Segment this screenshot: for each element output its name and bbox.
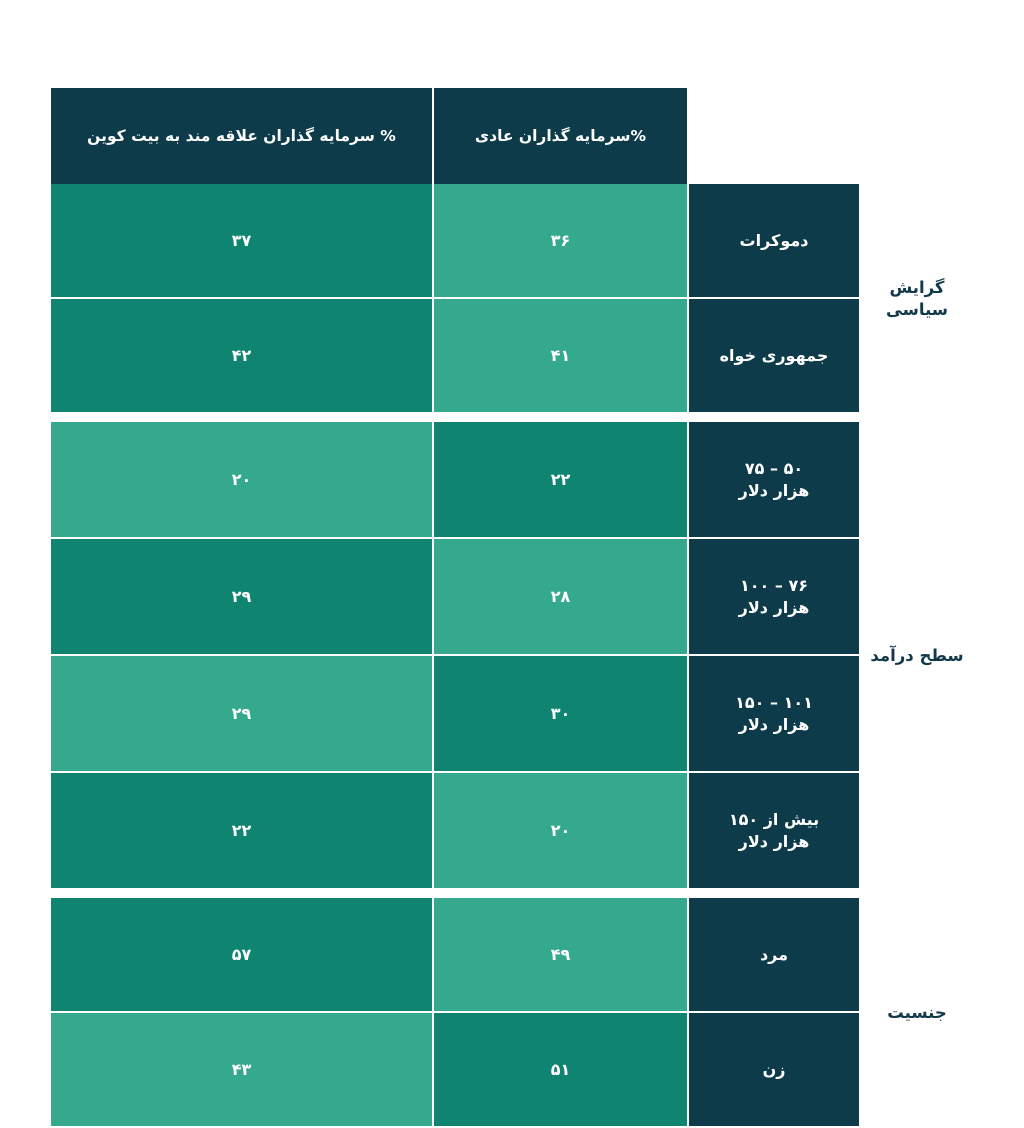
group-label-line: سطح درآمد xyxy=(867,645,967,667)
group-label-gender: جنسیت xyxy=(861,898,973,1128)
cell-btc-income-over-150: ۲۲ xyxy=(51,773,434,890)
spacer-cell xyxy=(689,890,861,898)
row-label-democrat: دموکرات xyxy=(689,184,861,299)
demographics-matrix-table: %سرمایه گذاران عادی % سرمایه گذاران علاق… xyxy=(51,88,973,1128)
spacer-cell xyxy=(434,414,689,422)
row-label-line: ۵۰ – ۷۵ xyxy=(699,458,849,479)
table-row: بیش از ۱۵۰ هزار دلار ۲۰ ۲۲ xyxy=(51,773,973,890)
row-label-line: هزار دلار xyxy=(699,714,849,735)
spacer-cell xyxy=(689,414,861,422)
table-row: سطح درآمد ۵۰ – ۷۵ هزار دلار ۲۲ ۲۰ xyxy=(51,422,973,539)
cell-normal-republican: ۴۱ xyxy=(434,299,689,414)
group-spacer xyxy=(51,414,973,422)
cell-normal-income-over-150: ۲۰ xyxy=(434,773,689,890)
column-header-bitcoin-investors: % سرمایه گذاران علاقه مند به بیت کوین xyxy=(51,88,434,184)
cell-btc-income-76-100: ۲۹ xyxy=(51,539,434,656)
table-row: جنسیت مرد ۴۹ ۵۷ xyxy=(51,898,973,1013)
row-label-income-over-150: بیش از ۱۵۰ هزار دلار xyxy=(689,773,861,890)
group-label-line: جنسیت xyxy=(867,1002,967,1024)
row-label-line: هزار دلار xyxy=(699,480,849,501)
row-label-line: دموکرات xyxy=(699,230,849,251)
cell-btc-income-50-75: ۲۰ xyxy=(51,422,434,539)
matrix-table-container: %سرمایه گذاران عادی % سرمایه گذاران علاق… xyxy=(0,0,1024,1010)
cell-normal-democrat: ۳۶ xyxy=(434,184,689,299)
group-label-line: سیاسی xyxy=(867,299,967,321)
row-label-income-101-150: ۱۰۱ – ۱۵۰ هزار دلار xyxy=(689,656,861,773)
cell-btc-income-101-150: ۲۹ xyxy=(51,656,434,773)
spacer-cell xyxy=(434,890,689,898)
spacer-cell xyxy=(51,414,434,422)
cell-normal-male: ۴۹ xyxy=(434,898,689,1013)
spacer-cell xyxy=(861,414,973,422)
cell-normal-income-50-75: ۲۲ xyxy=(434,422,689,539)
column-header-normal-investors: %سرمایه گذاران عادی xyxy=(434,88,689,184)
row-label-republican: جمهوری خواه xyxy=(689,299,861,414)
row-label-line: هزار دلار xyxy=(699,831,849,852)
table-row: ۷۶ – ۱۰۰ هزار دلار ۲۸ ۲۹ xyxy=(51,539,973,656)
group-label-income: سطح درآمد xyxy=(861,422,973,890)
cell-normal-income-76-100: ۲۸ xyxy=(434,539,689,656)
group-label-political: گرایش سیاسی xyxy=(861,184,973,414)
spacer-cell xyxy=(861,890,973,898)
header-corner-blank xyxy=(861,88,973,184)
group-label-line: گرایش xyxy=(867,277,967,299)
row-label-line: زن xyxy=(699,1059,849,1080)
row-label-line: هزار دلار xyxy=(699,597,849,618)
cell-btc-female: ۴۳ xyxy=(51,1013,434,1128)
row-label-female: زن xyxy=(689,1013,861,1128)
table-header-row: %سرمایه گذاران عادی % سرمایه گذاران علاق… xyxy=(51,88,973,184)
cell-btc-democrat: ۳۷ xyxy=(51,184,434,299)
row-label-line: جمهوری خواه xyxy=(699,345,849,366)
cell-normal-female: ۵۱ xyxy=(434,1013,689,1128)
cell-normal-income-101-150: ۳۰ xyxy=(434,656,689,773)
table-row: زن ۵۱ ۴۳ xyxy=(51,1013,973,1128)
group-spacer xyxy=(51,890,973,898)
table-row: جمهوری خواه ۴۱ ۴۲ xyxy=(51,299,973,414)
cell-btc-male: ۵۷ xyxy=(51,898,434,1013)
row-label-line: ۱۰۱ – ۱۵۰ xyxy=(699,692,849,713)
row-label-income-76-100: ۷۶ – ۱۰۰ هزار دلار xyxy=(689,539,861,656)
row-label-line: بیش از ۱۵۰ xyxy=(699,809,849,830)
table-row: ۱۰۱ – ۱۵۰ هزار دلار ۳۰ ۲۹ xyxy=(51,656,973,773)
table-row: گرایش سیاسی دموکرات ۳۶ ۳۷ xyxy=(51,184,973,299)
row-label-line: مرد xyxy=(699,944,849,965)
spacer-cell xyxy=(51,890,434,898)
row-label-male: مرد xyxy=(689,898,861,1013)
row-label-income-50-75: ۵۰ – ۷۵ هزار دلار xyxy=(689,422,861,539)
header-corner-blank-2 xyxy=(689,88,861,184)
cell-btc-republican: ۴۲ xyxy=(51,299,434,414)
table-body: %سرمایه گذاران عادی % سرمایه گذاران علاق… xyxy=(51,88,973,1128)
row-label-line: ۷۶ – ۱۰۰ xyxy=(699,575,849,596)
